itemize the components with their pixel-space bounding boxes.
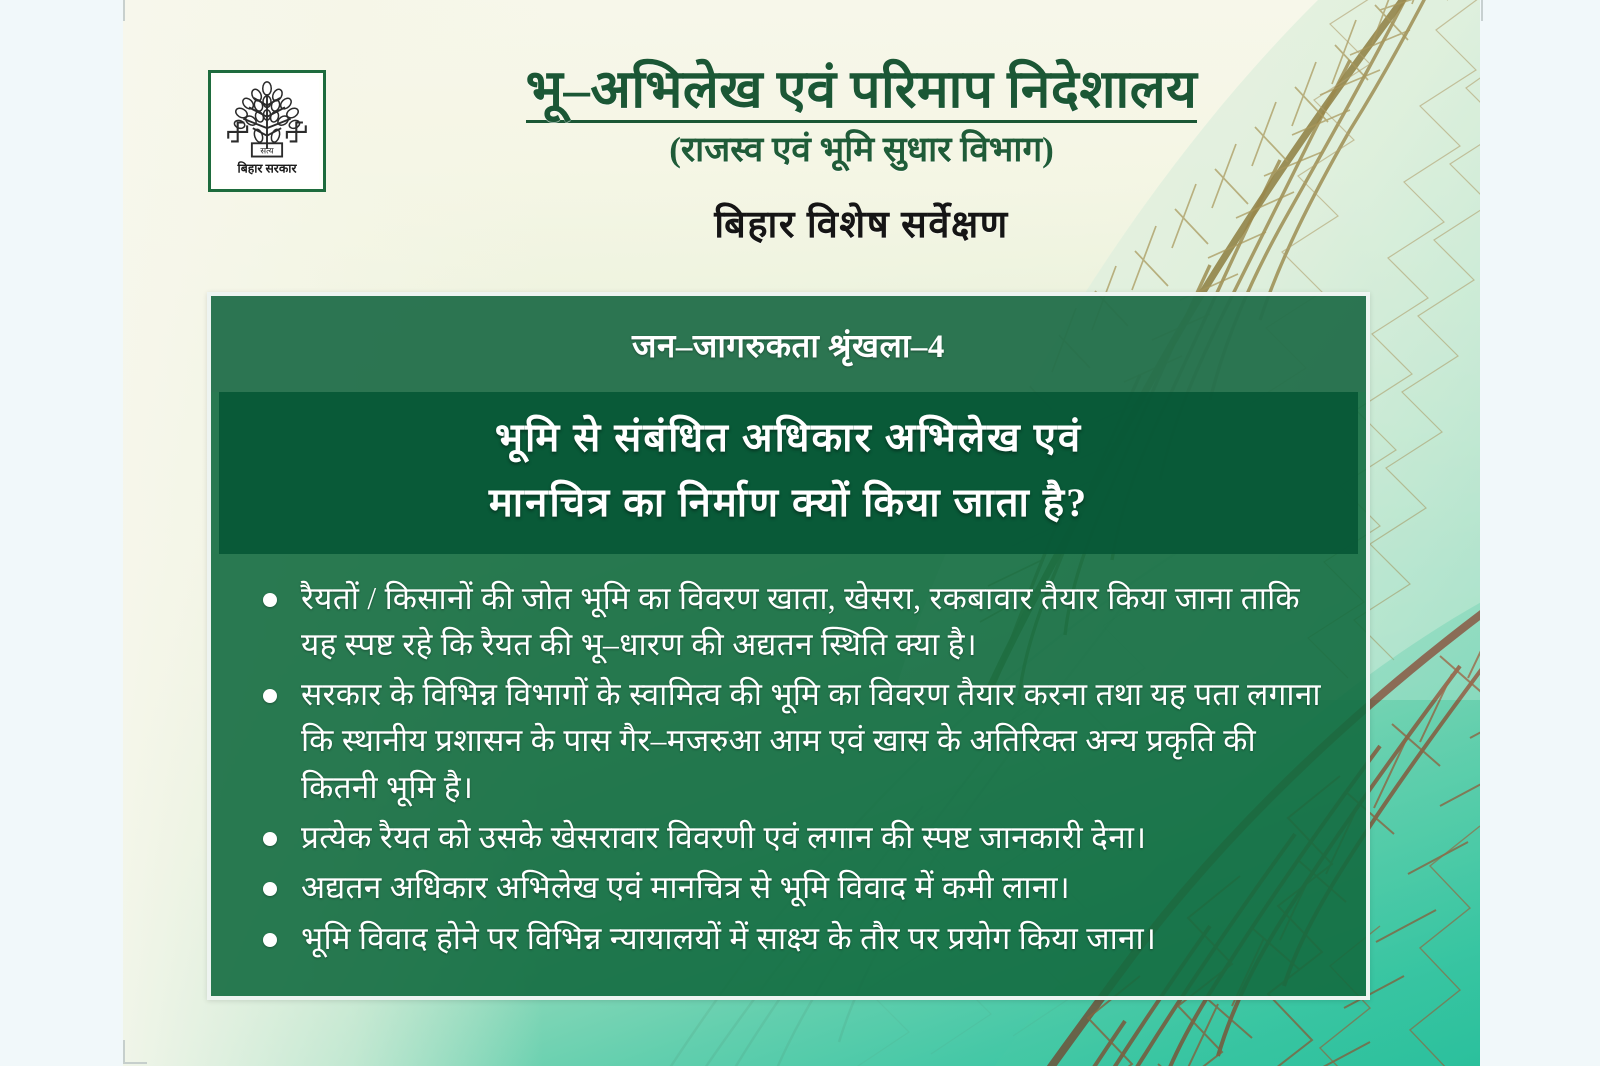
crop-mark-bottom-left [123,1040,147,1064]
series-band: जन–जागरुकता श्रृंखला–4 [211,296,1366,392]
reasons-list: रैयतों / किसानों की जोत भूमि का विवरण खा… [211,554,1366,962]
content-panel: जन–जागरुकता श्रृंखला–4 भूमि से संबंधित अ… [207,292,1370,1000]
survey-title: बिहार विशेष सर्वेक्षण [303,197,1420,249]
list-item: सरकार के विभिन्न विभागों के स्वामित्व की… [245,672,1332,811]
directorate-title: भू–अभिलेख एवं परिमाप निदेशालय [526,62,1198,123]
svg-text:सत्य: सत्य [260,146,274,156]
list-item: अद्यतन अधिकार अभिलेख एवं मानचित्र से भूम… [245,865,1332,911]
department-subtitle: (राजस्व एवं भूमि सुधार विभाग) [303,129,1420,171]
question-line-1: भूमि से संबंधित अधिकार अभिलेख एवं [239,406,1338,471]
series-label: जन–जागरुकता श्रृंखला–4 [632,322,945,367]
title-block: भू–अभिलेख एवं परिमाप निदेशालय (राजस्व एव… [303,62,1420,249]
poster-header: सत्य बिहार सरकार भू–अभिलेख एवं परिमाप नि… [123,0,1480,290]
poster-root: सत्य बिहार सरकार भू–अभिलेख एवं परिमाप नि… [0,0,1600,1066]
question-line-2: मानचित्र का निर्माण क्यों किया जाता है? [239,471,1338,536]
list-item: रैयतों / किसानों की जोत भूमि का विवरण खा… [245,576,1332,669]
emblem-caption: बिहार सरकार [237,161,298,176]
list-item: प्रत्येक रैयत को उसके खेसरावार विवरणी एव… [245,815,1332,861]
list-item: भूमि विवाद होने पर विभिन्न न्यायालयों मे… [245,916,1332,962]
question-band: भूमि से संबंधित अधिकार अभिलेख एवं मानचित… [219,392,1358,554]
